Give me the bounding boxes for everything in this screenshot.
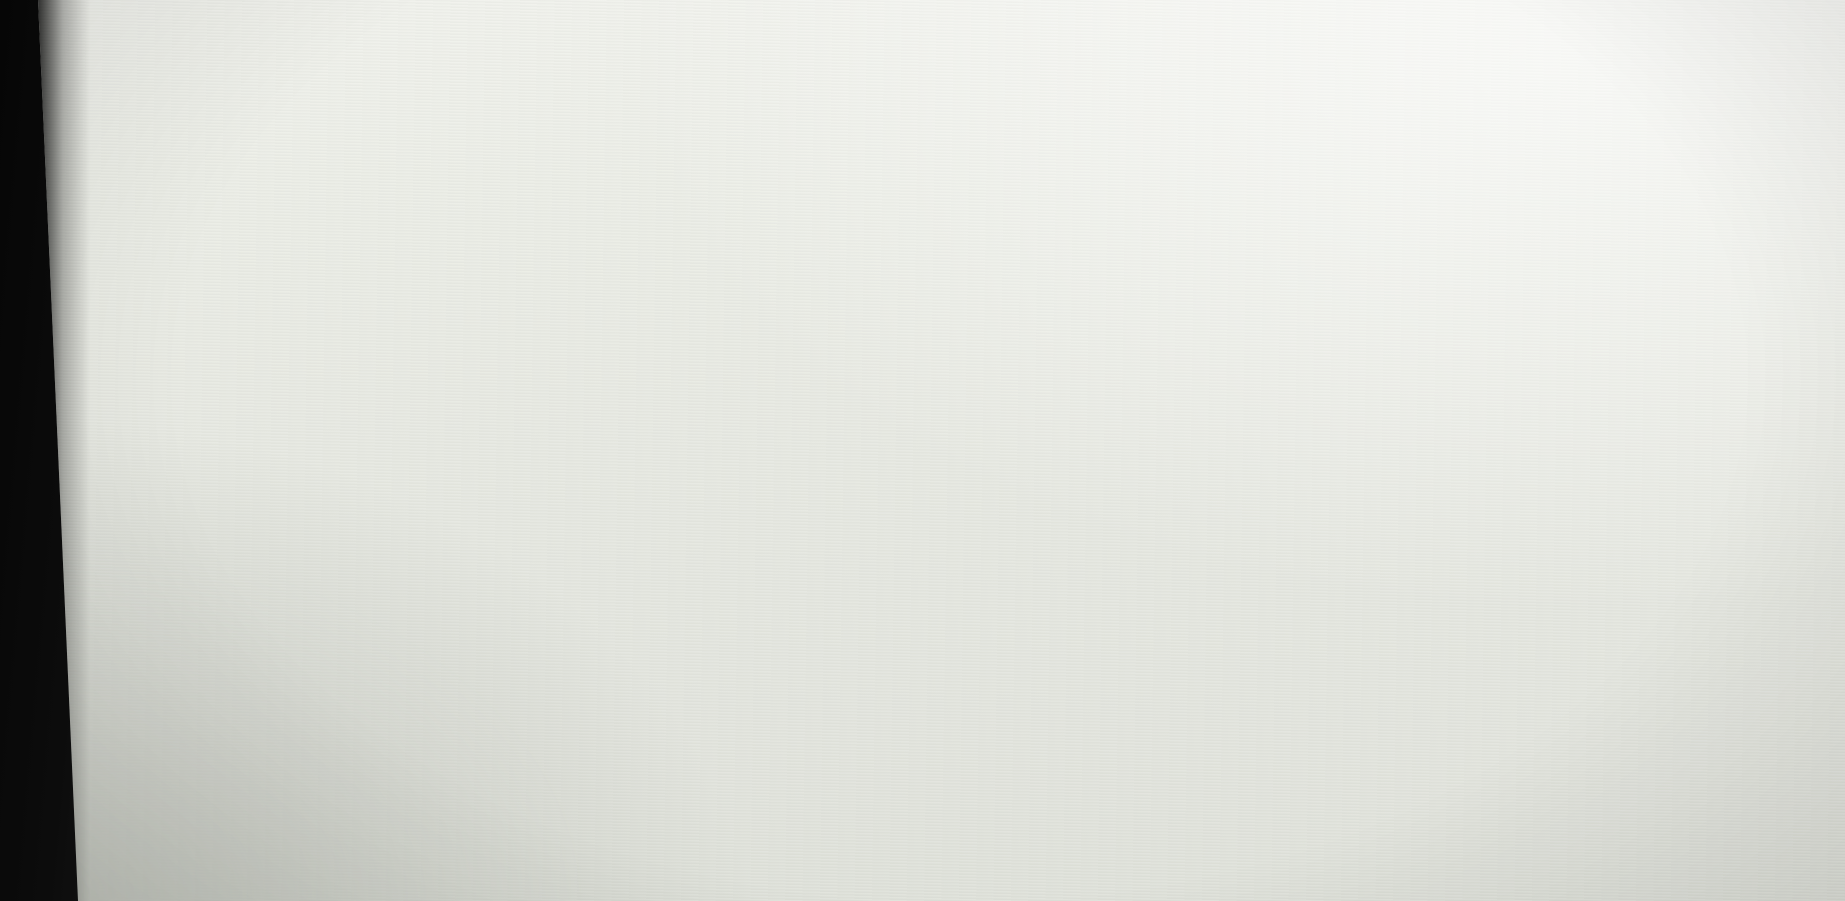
screen-surface	[0, 0, 1845, 901]
photographed-screen-scene: Question No. 29 How do "values" impact c…	[0, 0, 1845, 901]
